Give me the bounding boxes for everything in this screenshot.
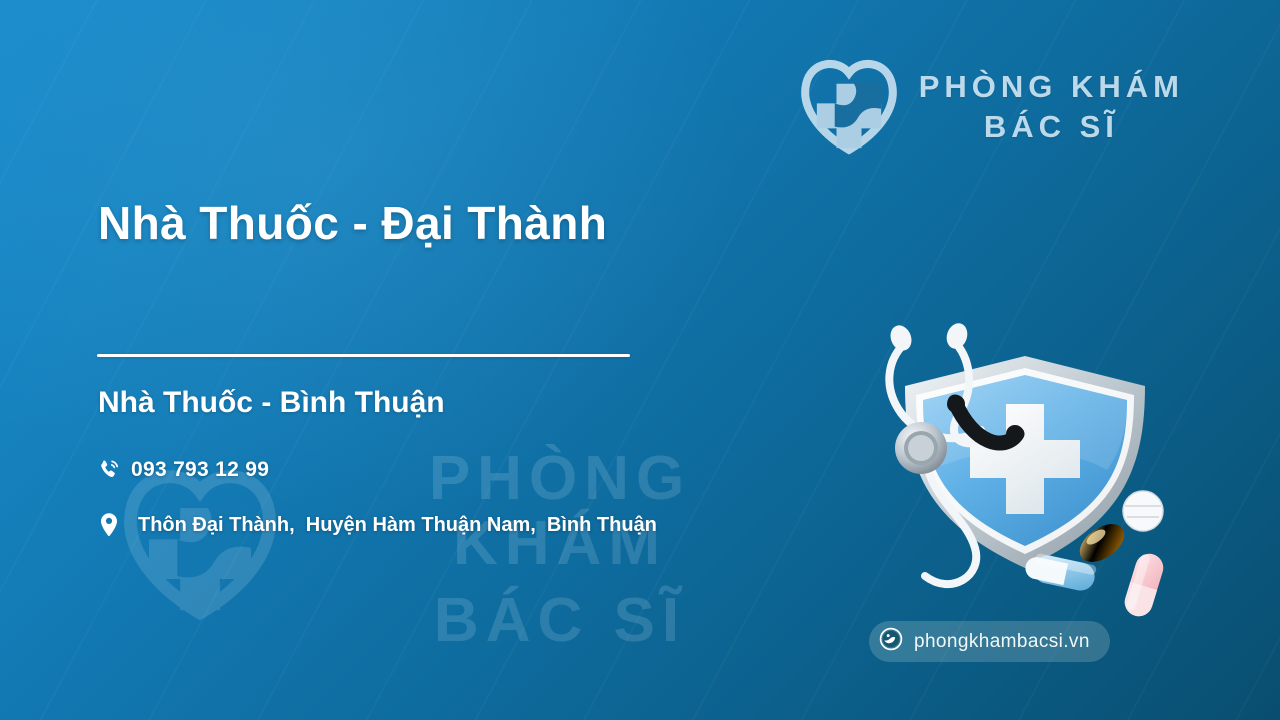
address-text: Thôn Đại Thành, Huyện Hàm Thuận Nam, Bìn… — [138, 514, 657, 537]
watermark-text: PHÒNG KHÁM BÁC SĨ — [310, 446, 810, 653]
address-row[interactable]: Thôn Đại Thành, Huyện Hàm Thuận Nam, Bìn… — [96, 510, 657, 540]
brand-logo: PHÒNG KHÁM BÁC SĨ — [795, 57, 1184, 157]
clinic-banner: PHÒNG KHÁM BÁC SĨ PHÒNG KHÁM BÁC SĨ Nhà … — [0, 0, 1280, 720]
brand-line-1: PHÒNG KHÁM — [919, 70, 1184, 104]
page-title: Nhà Thuốc - Đại Thành — [98, 196, 607, 250]
watermark-line-2: BÁC SĨ — [310, 588, 810, 653]
phone-row[interactable]: 093 793 12 99 — [96, 455, 269, 485]
map-pin-icon — [96, 510, 122, 540]
pink-white-capsule — [1121, 550, 1166, 619]
white-round-tablet — [1123, 491, 1163, 531]
brand-logo-text: PHÒNG KHÁM BÁC SĨ — [919, 70, 1184, 143]
medical-heart-cross-icon — [795, 57, 903, 157]
brand-line-2: BÁC SĨ — [919, 110, 1184, 144]
medical-heart-cross-icon — [115, 460, 285, 630]
page-subtitle: Nhà Thuốc - Bình Thuận — [98, 386, 445, 420]
title-divider — [97, 354, 630, 357]
phone-number: 093 793 12 99 — [131, 458, 269, 482]
medical-illustration — [855, 318, 1195, 638]
phone-call-icon — [96, 455, 122, 485]
